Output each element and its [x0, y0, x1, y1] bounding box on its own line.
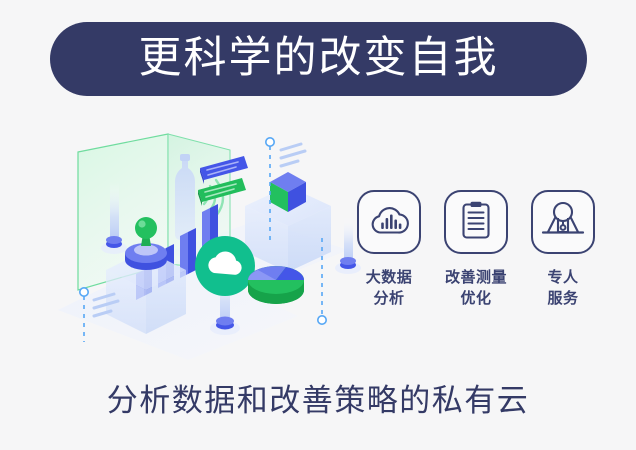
- feature-label: 大数据 分析: [366, 267, 413, 310]
- header-banner: 更科学的改变自我: [50, 22, 587, 96]
- feature-label-line2: 优化: [445, 288, 507, 309]
- feature-list: 大数据 分析: [352, 190, 600, 310]
- banner-title: 更科学的改变自我: [139, 37, 499, 80]
- feature-label: 改善测量 优化: [445, 267, 507, 310]
- feature-item-dedicated-service[interactable]: 专人 服务: [526, 190, 600, 310]
- 3d-pie-chart: [248, 266, 304, 304]
- poster-canvas: 更科学的改变自我: [0, 0, 636, 450]
- footer-tagline: 分析数据和改善策略的私有云: [0, 386, 636, 417]
- feature-label-line2: 服务: [547, 288, 578, 309]
- support-agent-icon: [541, 201, 585, 243]
- feature-item-measurement-optimization[interactable]: 改善测量 优化: [439, 190, 513, 310]
- hero-illustration: [48, 120, 368, 360]
- feature-label-line1: 改善测量: [445, 267, 507, 288]
- feature-label-line1: 大数据: [366, 267, 413, 288]
- cloud-bar-chart-icon: [369, 203, 409, 241]
- clipboard-icon: [459, 200, 493, 244]
- feature-badge: [357, 190, 421, 254]
- feature-item-big-data-analysis[interactable]: 大数据 分析: [352, 190, 426, 310]
- feature-label-line2: 分析: [366, 288, 413, 309]
- feature-label: 专人 服务: [547, 267, 578, 310]
- feature-label-line1: 专人: [547, 267, 578, 288]
- feature-badge: [531, 190, 595, 254]
- feature-badge: [444, 190, 508, 254]
